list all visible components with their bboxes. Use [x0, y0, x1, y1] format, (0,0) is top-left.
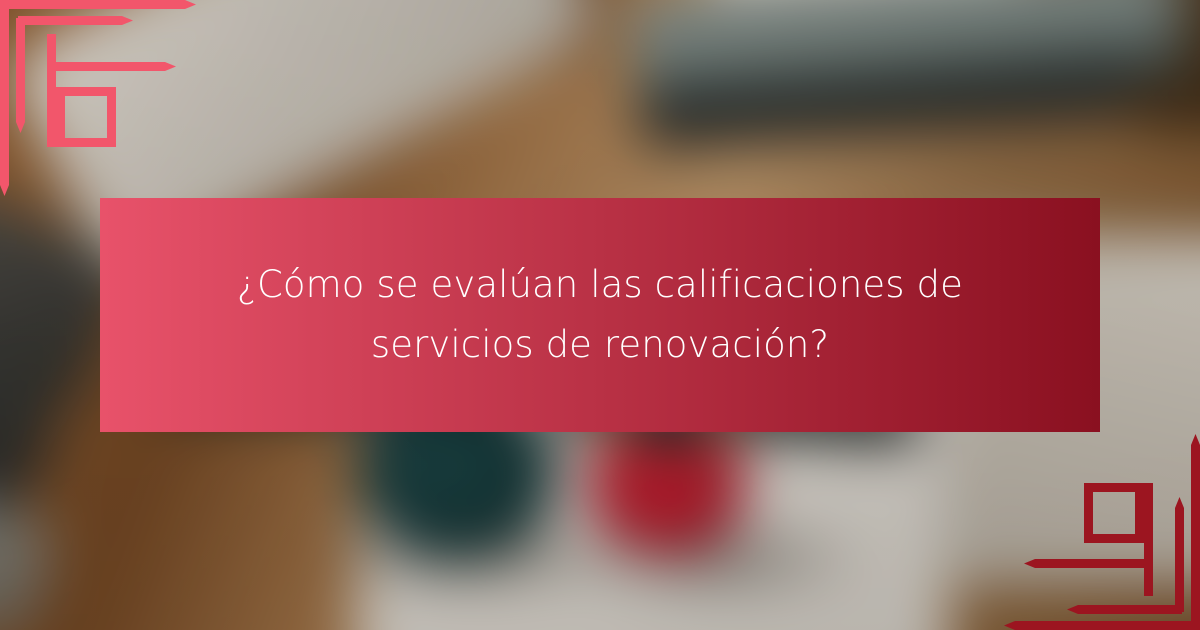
ornament-br-inner-vertical [1175, 497, 1184, 612]
ornament-tl-strokes [0, 0, 196, 196]
ornament-br-hook-horizontal [1024, 559, 1153, 568]
ornament-tl-inner-horizontal [18, 16, 133, 25]
ornament-tl-outer-horizontal [0, 0, 196, 9]
ornament-tl-inner-vertical [16, 18, 25, 133]
ornament-br-strokes [1004, 434, 1200, 630]
ornament-br-outer-horizontal [1004, 621, 1200, 630]
ornament-br-square [1084, 483, 1144, 543]
headline-banner: ¿Cómo se evalúan las calificaciones de s… [100, 198, 1100, 432]
ornament-br-square-left-edge [1144, 483, 1153, 543]
ornament-br-inner-horizontal [1067, 605, 1182, 614]
ornament-tl-square-left-edge [47, 87, 56, 147]
banner-card: ¿Cómo se evalúan las calificaciones de s… [0, 0, 1200, 630]
corner-ornament-top-left [0, 0, 220, 210]
ornament-tl-hook-horizontal [47, 62, 176, 71]
corner-ornament-bottom-right [980, 420, 1200, 630]
headline-line-2: servicios de renovación? [170, 315, 1030, 375]
ornament-tl-outer-vertical [0, 0, 9, 196]
ornament-tl-square [56, 87, 116, 147]
headline-line-1: ¿Cómo se evalúan las calificaciones de [170, 255, 1030, 315]
ornament-br-outer-vertical [1191, 434, 1200, 630]
headline-text: ¿Cómo se evalúan las calificaciones de s… [170, 255, 1030, 375]
